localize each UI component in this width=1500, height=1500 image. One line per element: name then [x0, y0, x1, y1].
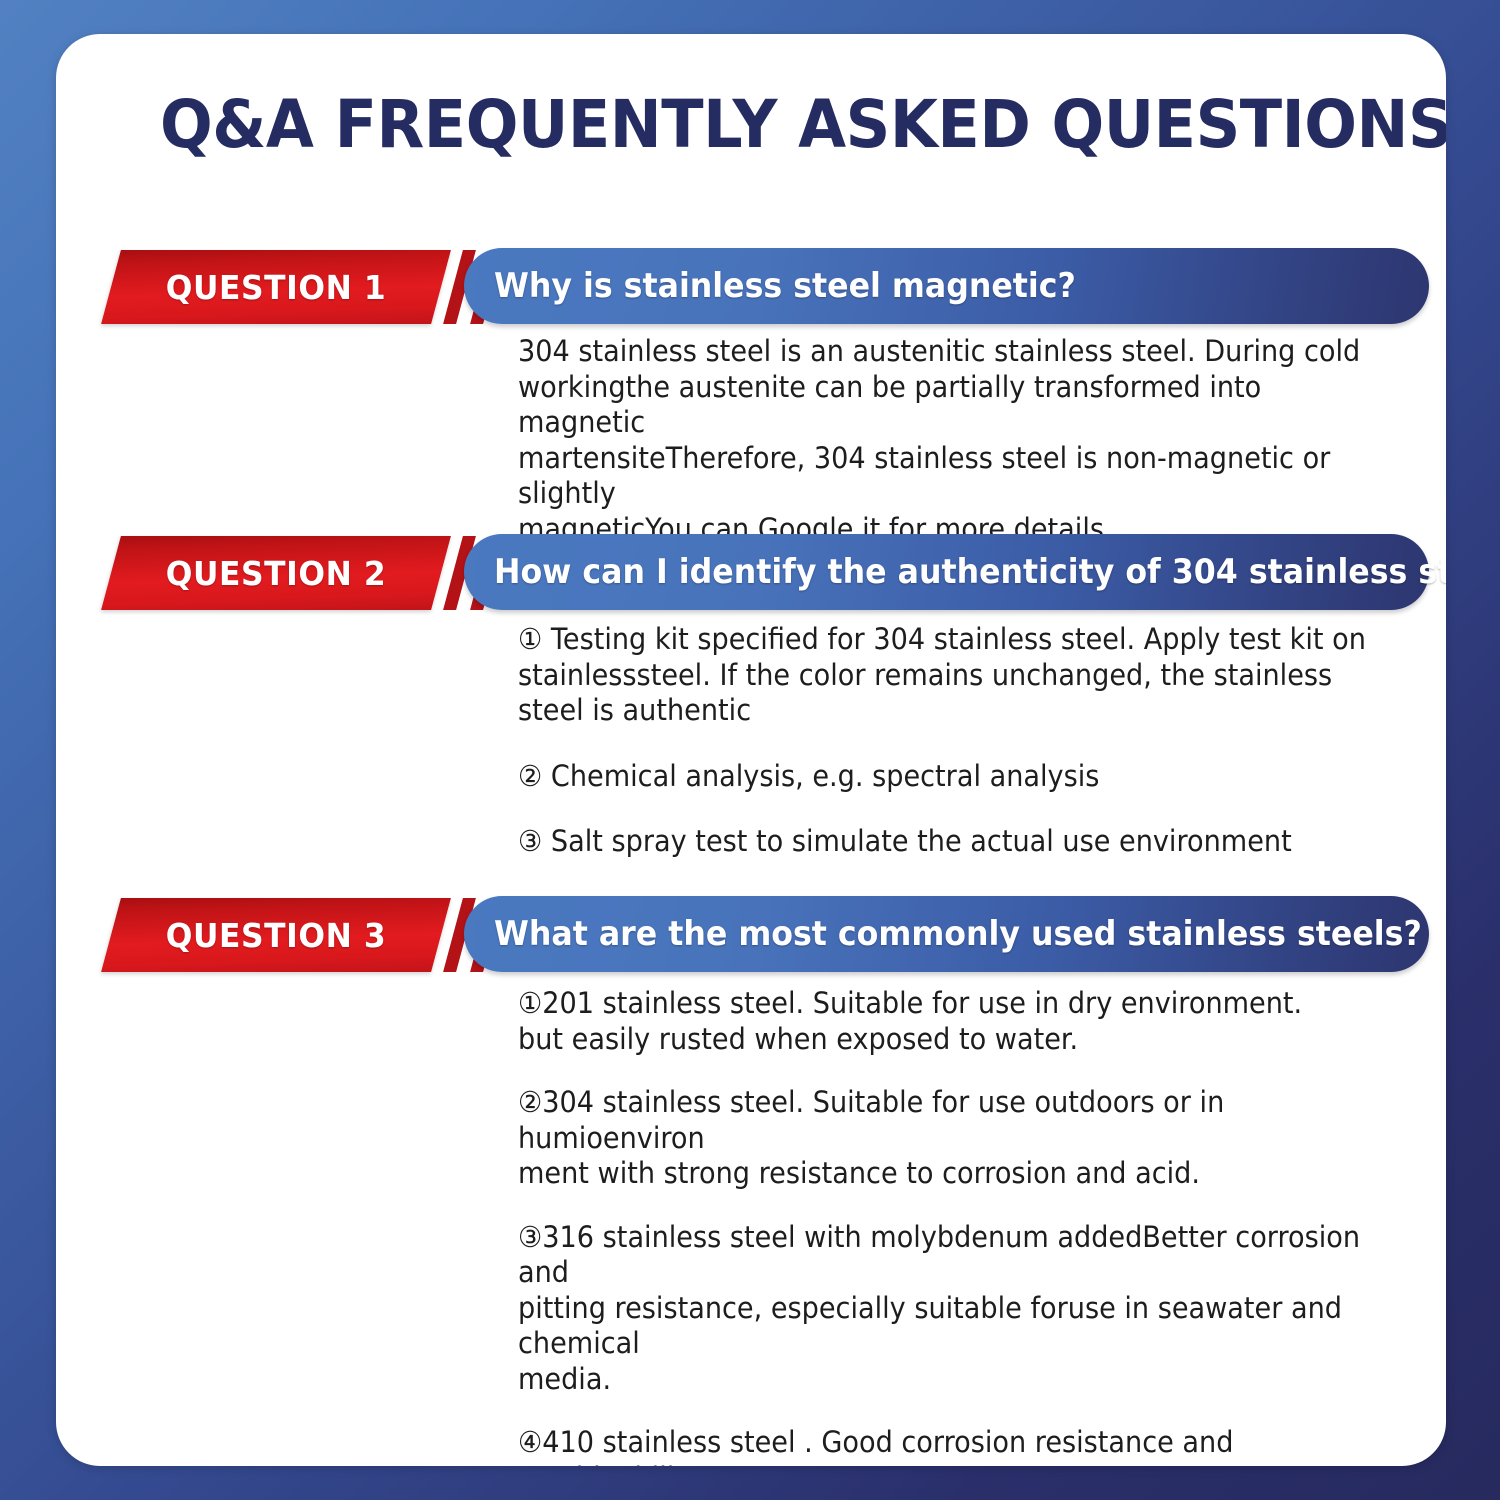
- question-pill-1[interactable]: Why is stainless steel magnetic?: [464, 248, 1429, 324]
- answer-paragraph: ②304 stainless steel. Suitable for use o…: [518, 1085, 1388, 1192]
- question-block-3: QUESTION 3 What are the most commonly us…: [56, 896, 1446, 974]
- answer-paragraph: ③316 stainless steel with molybdenum add…: [518, 1220, 1388, 1398]
- question-pill-2[interactable]: How can I identify the authenticity of 3…: [464, 534, 1429, 610]
- question-pill-3[interactable]: What are the most commonly used stainles…: [464, 896, 1429, 972]
- question-badge-3[interactable]: [101, 898, 451, 972]
- answer-paragraph: ④410 stainless steel . Good corrosion re…: [518, 1425, 1388, 1466]
- question-text-1: Why is stainless steel magnetic?: [494, 266, 1076, 306]
- question-text-2: How can I identify the authenticity of 3…: [494, 552, 1446, 592]
- question-header-3: QUESTION 3 What are the most commonly us…: [56, 896, 1446, 974]
- question-header-2: QUESTION 2 How can I identify the authen…: [56, 534, 1446, 612]
- question-badge-2[interactable]: [101, 536, 451, 610]
- answer-paragraph: 304 stainless steel is an austenitic sta…: [518, 334, 1388, 547]
- answer-paragraph: ①201 stainless steel. Suitable for use i…: [518, 986, 1388, 1057]
- question-block-2: QUESTION 2 How can I identify the authen…: [56, 534, 1446, 612]
- question-badge-1[interactable]: [101, 250, 451, 324]
- faq-page: Q&A FREQUENTLY ASKED QUESTIONS QUESTION …: [0, 0, 1500, 1500]
- answer-list-1: 304 stainless steel is an austenitic sta…: [518, 334, 1446, 547]
- answer-paragraph: ③ Salt spray test to simulate the actual…: [518, 824, 1388, 860]
- answer-list-2: ① Testing kit specified for 304 stainles…: [518, 622, 1446, 860]
- answer-list-3: ①201 stainless steel. Suitable for use i…: [518, 986, 1446, 1466]
- question-text-3: What are the most commonly used stainles…: [494, 914, 1422, 954]
- question-header-1: QUESTION 1 Why is stainless steel magnet…: [56, 248, 1446, 326]
- question-block-1: QUESTION 1 Why is stainless steel magnet…: [56, 248, 1446, 326]
- page-title: Q&A FREQUENTLY ASKED QUESTIONS: [160, 88, 1288, 162]
- answer-paragraph: ① Testing kit specified for 304 stainles…: [518, 622, 1388, 729]
- answer-paragraph: ② Chemical analysis, e.g. spectral analy…: [518, 759, 1388, 795]
- faq-card: Q&A FREQUENTLY ASKED QUESTIONS QUESTION …: [56, 34, 1446, 1466]
